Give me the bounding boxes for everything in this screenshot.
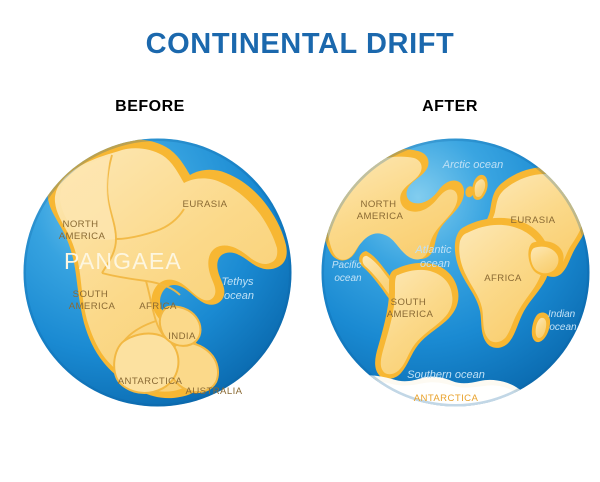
panel-heading-before: BEFORE <box>0 98 300 116</box>
label-eurasia: EURASIA <box>183 199 228 210</box>
pangaea-globe: PANGAEA NORTH AMERICA EURASIA SOUTH AMER… <box>20 135 295 410</box>
panel-heading-after: AFTER <box>300 98 600 116</box>
label-antarctica: ANTARCTICA <box>414 393 479 404</box>
label-africa: AFRICA <box>139 301 177 312</box>
page-title: CONTINENTAL DRIFT <box>0 28 600 61</box>
label-southern-ocean: Southern ocean <box>407 369 485 381</box>
label-australia: AUSTRALIA <box>186 386 243 397</box>
label-antarctica: ANTARCTICA <box>118 376 183 387</box>
label-north-america: NORTH AMERICA <box>357 199 404 222</box>
label-arctic-ocean: Arctic ocean <box>442 159 504 171</box>
label-south-america: SOUTH AMERICA <box>69 289 116 312</box>
label-north-america: NORTH AMERICA <box>59 219 106 242</box>
label-pangaea: PANGAEA <box>64 248 182 274</box>
label-india: INDIA <box>168 331 196 342</box>
label-africa: AFRICA <box>484 273 522 284</box>
label-south-america: SOUTH AMERICA <box>387 297 434 320</box>
modern-globe: NORTH AMERICA EURASIA AFRICA SOUTH AMERI… <box>318 135 593 410</box>
continental-drift-infographic: CONTINENTAL DRIFT BEFORE AFTER <box>0 0 600 482</box>
label-eurasia: EURASIA <box>511 215 556 226</box>
